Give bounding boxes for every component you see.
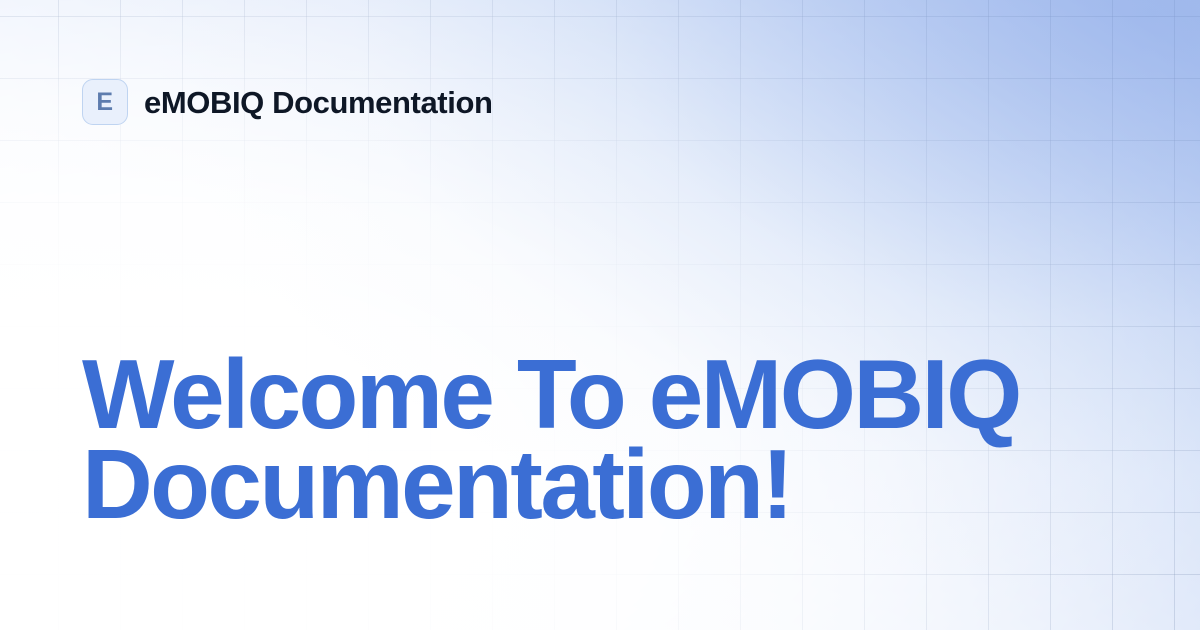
- banner-content: E eMOBIQ Documentation Welcome To eMOBIQ…: [0, 0, 1200, 630]
- hero-section: Welcome To eMOBIQ Documentation!: [82, 349, 1102, 529]
- site-header: E eMOBIQ Documentation: [82, 79, 493, 125]
- og-banner: E eMOBIQ Documentation Welcome To eMOBIQ…: [0, 0, 1200, 630]
- page-title: Welcome To eMOBIQ Documentation!: [82, 349, 1102, 529]
- logo-badge-icon: E: [82, 79, 128, 125]
- site-title: eMOBIQ Documentation: [144, 87, 493, 118]
- logo-letter: E: [96, 90, 113, 115]
